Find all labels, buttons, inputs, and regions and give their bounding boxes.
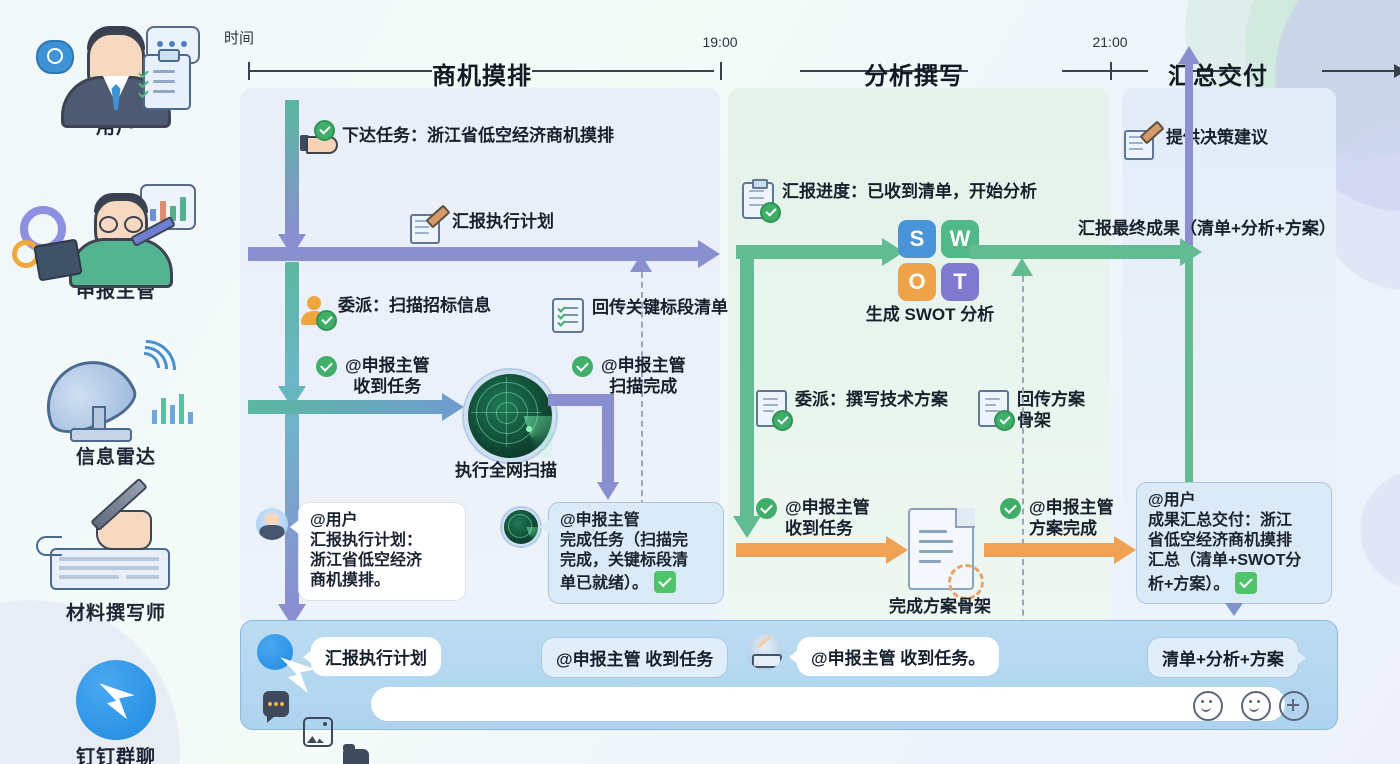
flow-elbow-arrow-head bbox=[597, 482, 619, 500]
emoji-icon[interactable] bbox=[1241, 691, 1271, 721]
dock-message-2[interactable]: @申报主管 收到任务。 bbox=[797, 637, 999, 676]
actor-dingtalk: 钉钉群聊 bbox=[0, 648, 232, 764]
note-pencil-icon bbox=[410, 212, 444, 242]
dingtalk-logo-icon bbox=[76, 660, 156, 740]
actor-user: 用户 bbox=[0, 14, 232, 139]
actor-name: 钉钉群聊 bbox=[0, 742, 232, 764]
arrow-right-icon bbox=[1394, 64, 1400, 78]
flow-arrow-to-radar bbox=[248, 400, 464, 414]
folder-icon[interactable] bbox=[343, 749, 369, 764]
bubble-final-delivery: @用户 成果汇总交付：浙江 省低空经济商机摸排 汇总（清单+SWOT分 析+方案… bbox=[1136, 482, 1332, 604]
document-icon bbox=[978, 390, 1009, 427]
avatar-writer bbox=[747, 634, 783, 670]
label-delegate-write: 委派：撰写技术方案 bbox=[756, 390, 948, 427]
radar-scan-node bbox=[464, 370, 556, 462]
actor-radar: 信息雷达 bbox=[0, 344, 232, 469]
flow-arrow-to-swot bbox=[736, 245, 904, 259]
timeline-header: 时间 19:00 21:00 商机摸排 分析撰写 汇总交付 bbox=[232, 28, 1400, 86]
writing-hand-keyboard-illustration bbox=[0, 500, 232, 596]
label-plan-done: @申报主管方案完成 bbox=[1000, 498, 1114, 539]
manager-avatar-illustration bbox=[0, 178, 232, 274]
swot-cell-s: S bbox=[898, 220, 936, 258]
success-check-icon bbox=[1235, 572, 1257, 594]
flow-arrow-advice-head bbox=[1178, 46, 1200, 64]
dock-message-1[interactable]: @申报主管 收到任务 bbox=[541, 637, 728, 678]
avatar-user bbox=[256, 508, 288, 540]
timeline-axis-label: 时间 bbox=[224, 27, 254, 48]
actor-name: 信息雷达 bbox=[0, 442, 232, 469]
dashed-return-line-2 bbox=[1022, 276, 1024, 646]
flow-arrow-user-down bbox=[285, 100, 299, 258]
swot-node-caption: 生成 SWOT 分析 bbox=[866, 300, 994, 325]
user-badge-icon bbox=[36, 40, 74, 74]
keyboard-icon bbox=[50, 548, 170, 590]
bubble-text: @用户 成果汇总交付：浙江 省低空经济商机摸排 汇总（清单+SWOT分 析+方案… bbox=[1148, 492, 1301, 593]
timeline-phase-label: 商机摸排 bbox=[432, 56, 532, 91]
label-ack-received-1: @申报主管收到任务 bbox=[316, 356, 430, 397]
bubble-scan-complete: @申报主管 完成任务（扫描完 完成，关键标段清 单已就绪）。 bbox=[548, 502, 724, 604]
doc-node-caption: 完成方案骨架 bbox=[889, 592, 991, 617]
satellite-dish-illustration bbox=[0, 344, 232, 440]
label-decision-advice: 提供决策建议 bbox=[1124, 128, 1268, 158]
timeline-phase-label: 分析撰写 bbox=[864, 56, 964, 91]
success-check-icon bbox=[654, 571, 676, 593]
flow-line-delivery-down bbox=[1185, 252, 1193, 484]
check-badge-icon bbox=[572, 356, 593, 377]
label-report-progress: 汇报进度：已收到清单，开始分析 bbox=[742, 182, 1037, 219]
flow-arrow-to-doc bbox=[736, 543, 908, 557]
swot-cell-t: T bbox=[941, 263, 979, 301]
handover-icon bbox=[300, 126, 334, 152]
label-scan-done: @申报主管扫描完成 bbox=[572, 356, 686, 397]
bubble-report-plan: @用户 汇报执行计划： 浙江省低空经济 商机摸排。 bbox=[298, 502, 466, 601]
radar-mini-icon bbox=[502, 508, 540, 546]
label-delegate-scan: 委派：扫描招标信息 bbox=[300, 296, 491, 326]
check-badge-icon bbox=[316, 356, 337, 377]
note-pencil-icon bbox=[1124, 128, 1158, 158]
dock-message-row: 汇报执行计划 @申报主管 收到任务 @申报主管 收到任务。 清单+分析+方案 bbox=[241, 621, 1337, 679]
diagram-canvas: 用户 申报主管 信息雷达 bbox=[0, 0, 1400, 764]
actor-writer: 材料撰写师 bbox=[0, 500, 232, 625]
actor-rail: 用户 申报主管 信息雷达 bbox=[0, 0, 232, 764]
document-icon bbox=[756, 390, 787, 427]
flow-arrow-manager-down-2 bbox=[740, 256, 754, 540]
label-report-plan: 汇报执行计划 bbox=[410, 212, 554, 242]
actor-name: 材料撰写师 bbox=[0, 598, 232, 625]
clipboard-icon bbox=[143, 54, 191, 110]
user-avatar-illustration bbox=[0, 14, 232, 110]
flow-elbow-vertical bbox=[602, 394, 614, 484]
image-icon[interactable] bbox=[303, 717, 333, 747]
flow-arrow-doc-to-delivery bbox=[984, 543, 1136, 557]
chat-input[interactable] bbox=[371, 687, 1285, 721]
dashed-arrow-head bbox=[630, 254, 652, 272]
chat-icon[interactable] bbox=[263, 691, 289, 717]
swot-cell-o: O bbox=[898, 263, 936, 301]
bubble-text: @用户 汇报执行计划： 浙江省低空经济 商机摸排。 bbox=[310, 512, 422, 589]
label-return-list: 回传关键标段清单 bbox=[552, 298, 728, 333]
check-badge-icon bbox=[1000, 498, 1021, 519]
dingtalk-logo-icon bbox=[257, 634, 293, 670]
flow-arrow-final-report bbox=[970, 245, 1202, 259]
person-icon bbox=[300, 296, 330, 326]
checklist-icon bbox=[552, 298, 584, 333]
plus-icon[interactable] bbox=[1279, 691, 1309, 721]
timeline-tick-value: 21:00 bbox=[1092, 34, 1127, 50]
radar-node-caption: 执行全网扫描 bbox=[455, 456, 557, 481]
actor-manager: 申报主管 bbox=[0, 178, 232, 303]
plan-skeleton-node bbox=[908, 508, 974, 590]
swot-node: S W O T bbox=[898, 220, 979, 301]
clipboard-icon bbox=[742, 182, 774, 219]
label-return-skeleton: 回传方案骨架 bbox=[978, 390, 1085, 431]
dingtalk-chat-dock[interactable]: 汇报执行计划 @申报主管 收到任务 @申报主管 收到任务。 清单+分析+方案 bbox=[240, 620, 1338, 730]
dock-message-0[interactable]: 汇报执行计划 bbox=[311, 637, 441, 676]
emoji-icon[interactable] bbox=[1193, 691, 1223, 721]
label-assign-task: 下达任务：浙江省低空经济商机摸排 bbox=[300, 126, 614, 152]
dock-message-3[interactable]: 清单+分析+方案 bbox=[1147, 637, 1299, 678]
flow-arrow-manager-down bbox=[285, 262, 299, 410]
timeline-tick-value: 19:00 bbox=[702, 34, 737, 50]
label-final-report: 汇报最终成果（清单+分析+方案） bbox=[1078, 218, 1336, 239]
label-ack-received-2: @申报主管收到任务 bbox=[756, 498, 870, 539]
check-badge-icon bbox=[756, 498, 777, 519]
dashed-arrow-head-2 bbox=[1011, 258, 1033, 276]
